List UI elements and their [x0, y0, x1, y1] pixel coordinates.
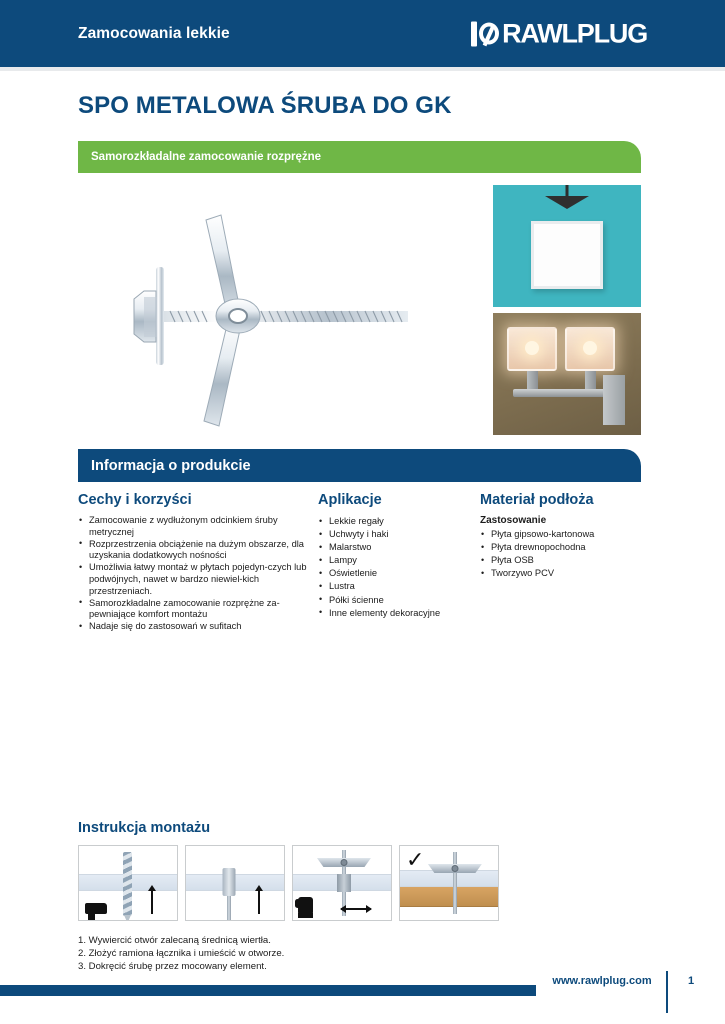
completed-fixing-check-icon: ✓	[399, 845, 499, 921]
footer-bar	[0, 985, 536, 996]
installation-steps-list: 1. Wywiercić otwór zalecaną średnicą wie…	[78, 934, 284, 973]
product-subtitle-banner: Samorozkładalne zamocowanie rozprężne	[78, 141, 641, 173]
list-item: Inne elementy dekoracyjne	[318, 607, 478, 620]
features-list: Zamocowanie z wydłużonym odcinkiem śruby…	[78, 515, 313, 633]
list-item: Płyta OSB	[480, 554, 658, 567]
list-item: Płyta gipsowo-kartonowa	[480, 528, 658, 541]
product-info-label: Informacja o produkcie	[91, 458, 251, 474]
header-category-label: Zamocowania lekkie	[78, 25, 230, 43]
installation-step-images: ✓	[78, 845, 499, 921]
list-item: Malarstwo	[318, 541, 478, 554]
rawlplug-circle-slash-icon	[471, 21, 499, 46]
applications-heading: Aplikacje	[318, 492, 478, 508]
features-heading: Cechy i korzyści	[78, 492, 313, 508]
drill-hole-step-icon	[78, 845, 178, 921]
list-item: Półki ścienne	[318, 594, 478, 607]
header-divider	[0, 67, 725, 71]
list-item: Lustra	[318, 580, 478, 593]
applications-column: Aplikacje Lekkie regały Uchwyty i haki M…	[318, 492, 478, 620]
list-item: Rozprzestrzenia obciążenie na dużym obsz…	[78, 539, 313, 562]
list-item: Umożliwia łatwy montaż w płytach pojedyn…	[78, 562, 313, 597]
hero-section	[78, 185, 641, 435]
list-item: Nadaje się do zastosowań w sufitach	[78, 621, 313, 633]
base-material-subheading: Zastosowanie	[480, 515, 658, 526]
base-material-list: Płyta gipsowo-kartonowa Płyta drewnopoch…	[480, 528, 658, 580]
brand-logo-text: RAWLPLUG	[502, 20, 647, 47]
list-item: Zamocowanie z wydłużonym odcinkiem śruby…	[78, 515, 313, 538]
list-item: 2. Złożyć ramiona łącznika i umieścić w …	[78, 947, 284, 960]
base-material-heading: Materiał podłoża	[480, 492, 658, 508]
product-info-banner: Informacja o produkcie	[78, 449, 641, 482]
application-photos	[493, 185, 641, 435]
page-title: SPO METALOWA ŚRUBA DO GK	[78, 92, 452, 120]
checkmark-icon: ✓	[406, 850, 424, 872]
list-item: Uchwyty i haki	[318, 528, 478, 541]
product-subtitle-label: Samorozkładalne zamocowanie rozprężne	[91, 151, 321, 163]
base-material-column: Materiał podłoża Zastosowanie Płyta gips…	[480, 492, 658, 580]
installation-heading: Instrukcja montażu	[78, 820, 210, 836]
list-item: Płyta drewnopochodna	[480, 541, 658, 554]
applications-list: Lekkie regały Uchwyty i haki Malarstwo L…	[318, 515, 478, 619]
footer-website-link[interactable]: www.rawlplug.com	[532, 975, 672, 987]
list-item: 1. Wywiercić otwór zalecaną średnicą wie…	[78, 934, 284, 947]
features-column: Cechy i korzyści Zamocowanie z wydłużony…	[78, 492, 313, 633]
footer-divider	[666, 971, 668, 1013]
list-item: 3. Dokręcić śrubę przez mocowany element…	[78, 960, 284, 973]
list-item: Oświetlenie	[318, 567, 478, 580]
brand-logo: RAWLPLUG	[471, 20, 647, 47]
list-item: Lekkie regały	[318, 515, 478, 528]
page-header: Zamocowania lekkie RAWLPLUG	[0, 0, 725, 67]
datasheet-page: Zamocowania lekkie RAWLPLUG SPO METALOWA…	[0, 0, 725, 1024]
product-image	[78, 185, 488, 435]
insert-folded-anchor-step-icon	[185, 845, 285, 921]
tighten-screw-step-icon	[292, 845, 392, 921]
list-item: Samorozkładalne zamocowanie rozprężne za…	[78, 598, 313, 621]
spring-toggle-anchor-illustration	[78, 185, 488, 435]
page-number: 1	[676, 975, 706, 987]
list-item: Tworzywo PCV	[480, 567, 658, 580]
wall-sconce-lamp-photo	[493, 313, 641, 435]
list-item: Lampy	[318, 554, 478, 567]
framed-picture-on-teal-wall-photo	[493, 185, 641, 307]
